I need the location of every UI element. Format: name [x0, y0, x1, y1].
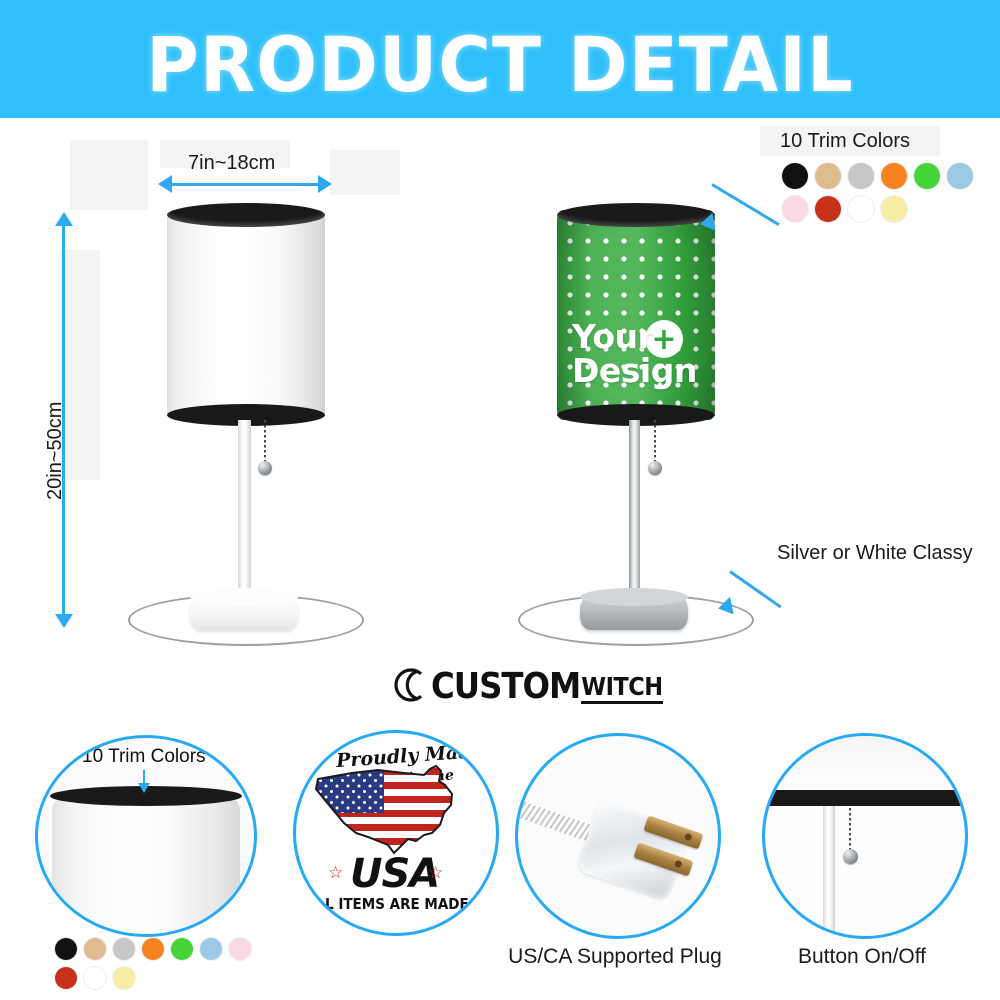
star-right-icon: ☆	[428, 863, 443, 883]
swatch-gray[interactable]	[848, 163, 874, 189]
lamp-base-top	[580, 588, 688, 606]
plug-housing	[576, 800, 691, 901]
logo-c-mark	[392, 666, 430, 704]
product-detail-page: PRODUCT DETAIL 7in~18cm 20in~50cm	[0, 0, 1000, 1000]
swatch-green[interactable]	[171, 938, 193, 960]
swatch-light-blue[interactable]	[947, 163, 973, 189]
pull-chain-ball[interactable]	[258, 461, 272, 475]
lamp-pole	[629, 420, 640, 600]
feature-plug-caption: US/CA Supported Plug	[505, 945, 725, 969]
lampshade-white	[167, 210, 325, 420]
lamp-pole	[238, 420, 251, 600]
trim-colors-swatches-top[interactable]	[782, 163, 1000, 222]
page-title: PRODUCT DETAIL	[0, 20, 1000, 109]
usa-flag-map-icon	[312, 761, 482, 859]
logo-primary-text: CUSTOM	[431, 670, 580, 704]
base-finish-label: Silver or White Classy	[777, 542, 973, 565]
swatch-yellow[interactable]	[113, 967, 135, 989]
feature-trim-colors-caption: 10 Trim Colors	[82, 746, 206, 768]
pull-chain-ball[interactable]	[648, 461, 662, 475]
swatch-white[interactable]	[84, 967, 106, 989]
swatch-tan[interactable]	[815, 163, 841, 189]
star-left-icon: ☆	[328, 863, 343, 883]
lampshade-crop	[52, 800, 240, 937]
width-dimension-label: 7in~18cm	[188, 152, 275, 175]
swatch-yellow[interactable]	[881, 196, 907, 222]
bg-patch	[330, 150, 400, 195]
feature-circle-made-in-usa: Proudly Made in the	[293, 730, 499, 936]
lamp-pole-crop	[823, 806, 835, 936]
feature-circle-trim-colors: 10 Trim Colors	[35, 735, 257, 937]
feature-circle-switch	[762, 733, 968, 939]
swatch-orange[interactable]	[881, 163, 907, 189]
pull-chain-ball[interactable]	[843, 849, 858, 864]
swatch-pink[interactable]	[782, 196, 808, 222]
swatch-black[interactable]	[782, 163, 808, 189]
swatch-black[interactable]	[55, 938, 77, 960]
swatch-red[interactable]	[815, 196, 841, 222]
lampshade-crop	[762, 733, 968, 794]
usa-headline: USA	[350, 851, 439, 897]
swatch-orange[interactable]	[142, 938, 164, 960]
trim-colors-label-top: 10 Trim Colors	[780, 130, 910, 153]
swatch-gray[interactable]	[113, 938, 135, 960]
lamp-base-top	[190, 588, 298, 606]
pull-chain[interactable]	[264, 420, 266, 464]
design-line-2: Design	[572, 351, 697, 390]
lampshade-custom[interactable]: Your Design +	[557, 210, 715, 420]
trim-ring-crop	[762, 790, 968, 806]
pull-chain[interactable]	[849, 808, 851, 854]
trim-ring-top	[167, 203, 325, 227]
logo-secondary-text: WITCH	[581, 674, 662, 704]
bg-patch	[70, 140, 148, 210]
swatch-tan[interactable]	[84, 938, 106, 960]
feature-switch-caption: Button On/Off	[762, 945, 962, 969]
trim-ring-top	[557, 203, 715, 227]
swatch-light-blue[interactable]	[200, 938, 222, 960]
trim-colors-swatches-bottom[interactable]	[55, 938, 265, 989]
swatch-green[interactable]	[914, 163, 940, 189]
swatch-pink[interactable]	[229, 938, 251, 960]
feature-circle-plug	[515, 733, 721, 939]
swatch-red[interactable]	[55, 967, 77, 989]
header-banner: PRODUCT DETAIL	[0, 0, 1000, 118]
usa-subline: ALL ITEMS ARE MADE TO ORDER!	[306, 895, 499, 913]
swatch-white[interactable]	[848, 196, 874, 222]
brand-logo: CUSTOM WITCH	[392, 666, 663, 704]
pull-chain[interactable]	[654, 420, 656, 464]
